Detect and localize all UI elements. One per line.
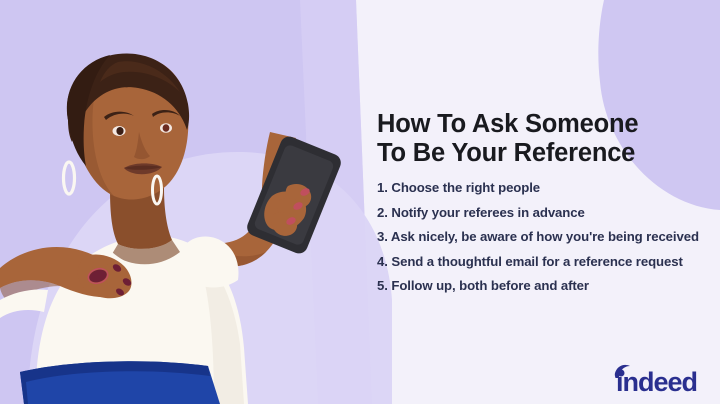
list-item: 3. Ask nicely, be aware of how you're be… [377,225,717,250]
indeed-logo: indeed [612,360,708,394]
list-item: 1. Choose the right people [377,176,717,201]
steps-list: 1. Choose the right people 2. Notify you… [377,176,717,299]
text-content-layer: How To Ask Someone To Be Your Reference … [0,0,720,404]
list-item-label: Ask nicely, be aware of how you're being… [391,229,699,244]
list-item-number: 5. [377,274,388,299]
list-item-label: Notify your referees in advance [391,205,584,220]
list-item: 5. Follow up, both before and after [377,274,717,299]
title-line-1: How To Ask Someone [377,110,707,139]
logo-wordmark: indeed [616,367,697,394]
list-item-number: 2. [377,201,388,226]
list-item-label: Follow up, both before and after [391,278,589,293]
list-item-number: 1. [377,176,388,201]
page-title: How To Ask Someone To Be Your Reference [377,110,707,168]
list-item-number: 3. [377,225,388,250]
title-line-2: To Be Your Reference [377,139,707,168]
list-item-number: 4. [377,250,388,275]
list-item: 4. Send a thoughtful email for a referen… [377,250,717,275]
list-item: 2. Notify your referees in advance [377,201,717,226]
list-item-label: Send a thoughtful email for a reference … [391,254,682,269]
list-item-label: Choose the right people [391,180,540,195]
slide-canvas: How To Ask Someone To Be Your Reference … [0,0,720,404]
